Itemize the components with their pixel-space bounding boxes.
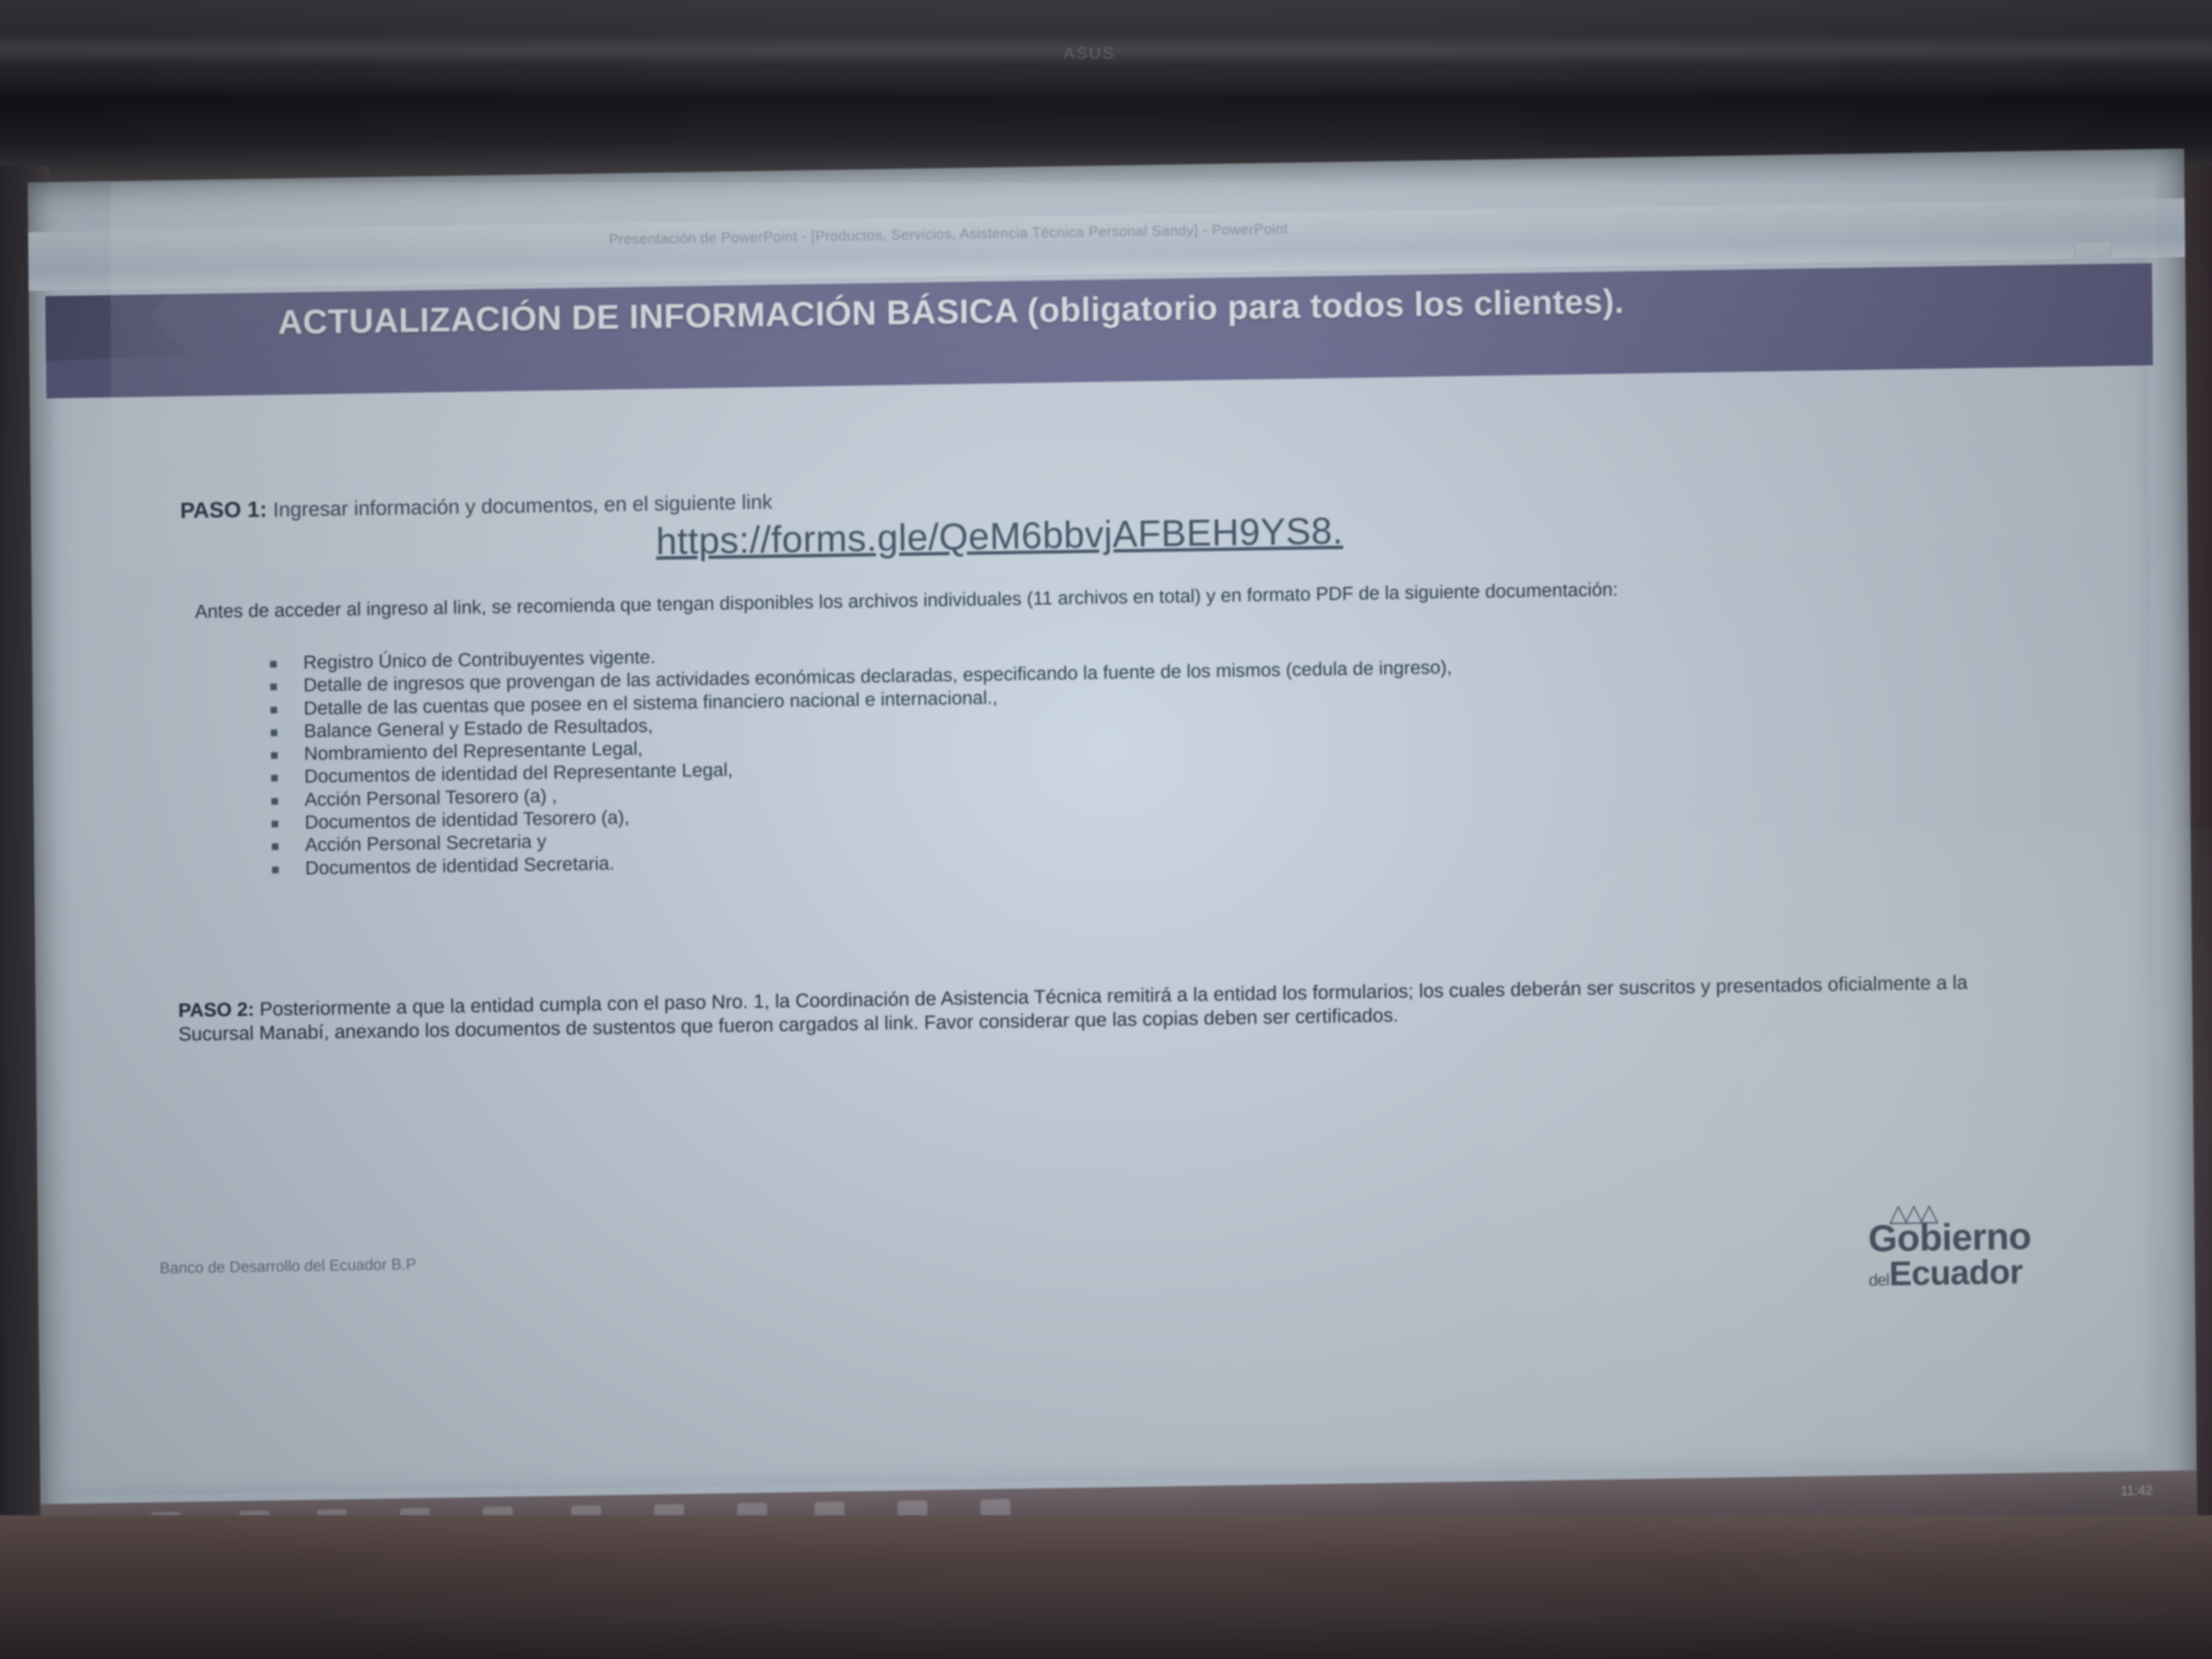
bullet-icon: [271, 729, 278, 736]
list-item-label: Acción Personal Secretaria y: [305, 831, 546, 856]
window-minimize-button[interactable]: [2074, 241, 2111, 257]
form-link-text: https://forms.gle/QeM6bbvjAFBEH9YS8: [656, 510, 1333, 562]
bullet-icon: [272, 798, 278, 805]
laptop-bezel-bottom: [0, 1515, 2212, 1659]
photo-scene: ASUS Presentación de PowerPoint - [Produ…: [0, 0, 2212, 1659]
logo-line-1: Gobierno: [1868, 1216, 2128, 1258]
bullet-icon: [272, 821, 278, 827]
paso1-text: Ingresar información y documentos, en el…: [273, 491, 773, 521]
list-item-label: Nombramiento del Representante Legal,: [304, 738, 643, 765]
paso2-text: Posteriormente a que la entidad cumpla c…: [179, 972, 1968, 1045]
list-item-label: Documentos de identidad Secretaria.: [305, 853, 615, 879]
bullet-icon: [270, 661, 276, 667]
bullet-icon: [272, 843, 278, 850]
logo-line-2-small: del: [1869, 1271, 1889, 1290]
slide-canvas: ACTUALIZACIÓN DE INFORMACIÓN BÁSICA (obl…: [51, 258, 2158, 1496]
slide-body: PASO 1: Ingresar información y documento…: [51, 258, 2158, 1496]
list-item-label: Balance General y Estado de Resultados,: [304, 715, 653, 742]
logo-line-2-main: Ecuador: [1889, 1253, 2023, 1293]
list-item-label: Documentos de identidad Tesorero (a),: [305, 807, 629, 833]
bullet-icon: [270, 707, 277, 713]
bullet-icon: [271, 752, 278, 759]
bullet-icon: [272, 867, 279, 873]
bullet-icon: [270, 684, 277, 690]
bullet-icon: [271, 775, 278, 782]
laptop-screen: Presentación de PowerPoint - [Productos,…: [28, 149, 2198, 1565]
intro-paragraph: Antes de acceder al ingreso al link, se …: [195, 571, 2097, 623]
form-link-period: .: [1332, 510, 1343, 552]
laptop-brand-logo: ASUS: [1040, 44, 1139, 70]
paso2-label: PASO 2:: [178, 999, 254, 1021]
logo-line-2: delEcuador: [1869, 1254, 2129, 1292]
window-title: Presentación de PowerPoint - [Productos,…: [609, 220, 1288, 248]
slide-footer-organization: Banco de Desarrollo del Ecuador B.P: [160, 1255, 416, 1277]
gobierno-del-ecuador-logo: △△△ Gobierno delEcuador: [1868, 1204, 2128, 1292]
list-item-label: Acción Personal Tesorero (a) ,: [305, 785, 557, 810]
taskbar-clock[interactable]: 11:42: [2120, 1483, 2153, 1499]
paso2-paragraph: PASO 2: Posteriormente a que la entidad …: [178, 970, 2042, 1046]
paso1-label: PASO 1:: [180, 497, 267, 523]
required-documents-list: Registro Único de Contribuyentes vigente…: [237, 623, 2119, 881]
